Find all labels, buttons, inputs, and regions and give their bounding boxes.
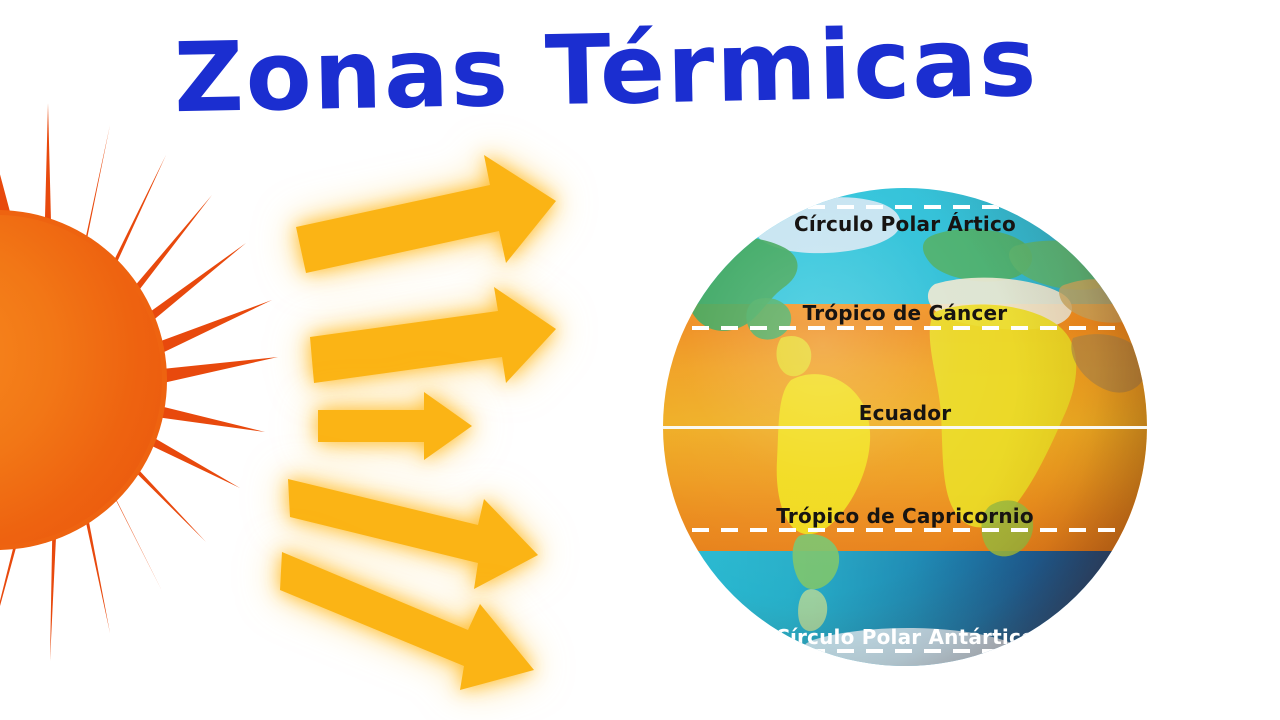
sun-ray-arrow-5 xyxy=(280,554,538,684)
label-equator: Ecuador xyxy=(663,401,1147,425)
tropic-of-cancer-line xyxy=(663,326,1147,330)
slide-canvas: Zonas Térmicas xyxy=(0,0,1280,720)
sun xyxy=(0,95,280,665)
label-tropic-of-cancer: Trópico de Cáncer xyxy=(663,301,1147,325)
sun-ray-arrow-2 xyxy=(306,289,558,381)
label-arctic-circle: Círculo Polar Ártico xyxy=(663,212,1147,236)
earth-globe: Círculo Polar Ártico Trópico de Cáncer E… xyxy=(663,188,1147,666)
arctic-circle-line xyxy=(663,205,1147,209)
label-antarctic-circle: Círculo Polar Antártico xyxy=(663,625,1147,649)
sun-ray-arrow-1 xyxy=(292,163,560,273)
label-tropic-of-capricorn: Trópico de Capricornio xyxy=(663,504,1147,528)
equator-line xyxy=(663,426,1147,429)
antarctic-circle-line xyxy=(663,649,1147,653)
tropic-of-capricorn-line xyxy=(663,528,1147,532)
sun-ray-arrow-3 xyxy=(314,390,474,462)
